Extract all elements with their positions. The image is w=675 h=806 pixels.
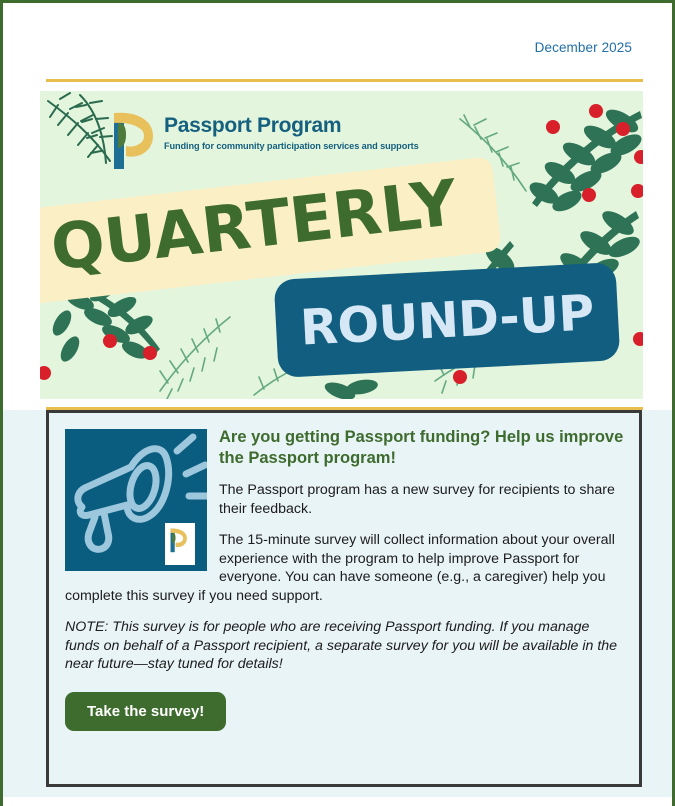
banner-title-roundup: ROUND-UP: [274, 262, 621, 378]
take-the-survey-button[interactable]: Take the survey!: [65, 692, 226, 731]
logo-subtitle: Funding for community participation serv…: [164, 141, 419, 153]
gold-divider-top: [46, 79, 643, 82]
callout-note: NOTE: This survey is for people who are …: [65, 618, 625, 674]
survey-callout-box: Are you getting Passport funding? Help u…: [46, 410, 642, 787]
megaphone-icon: [65, 429, 207, 571]
issue-date: December 2025: [535, 40, 632, 55]
newsletter-page: December 2025: [0, 0, 675, 806]
cta-row: Take the survey!: [65, 692, 625, 731]
megaphone-image: [65, 429, 207, 571]
article-section: Are you getting Passport funding? Help u…: [3, 410, 672, 797]
logo-title: Passport Program: [164, 115, 419, 137]
passport-p-logo-icon: [108, 109, 155, 171]
issue-date-row: December 2025: [3, 3, 672, 63]
passport-logo: Passport Program Funding for community p…: [108, 109, 419, 171]
hero-banner: Passport Program Funding for community p…: [40, 91, 643, 399]
